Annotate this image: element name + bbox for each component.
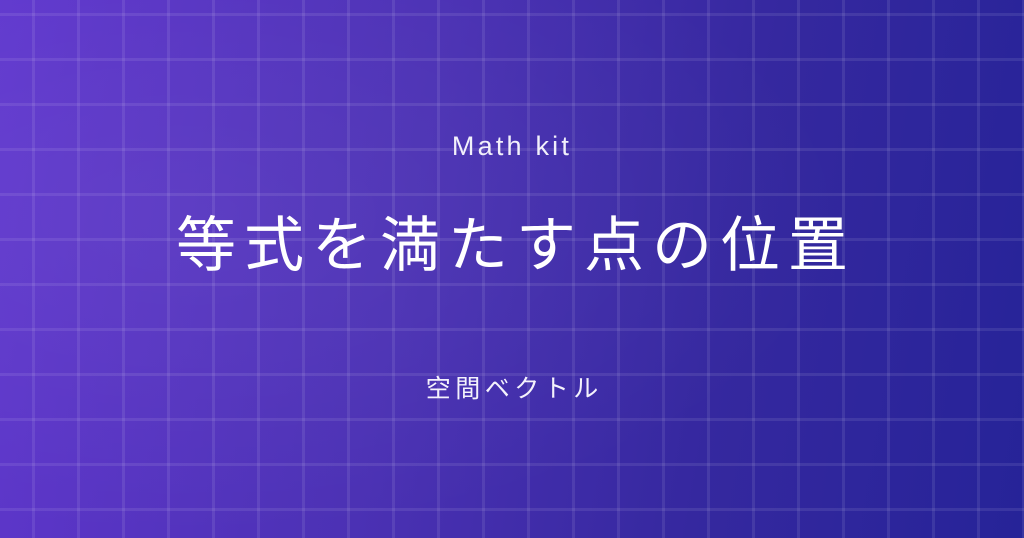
brand-eyebrow: Math kit bbox=[452, 133, 572, 160]
page-title: 等式を満たす点の位置 bbox=[168, 216, 856, 276]
title-card-content: Math kit 等式を満たす点の位置 空間ベクトル bbox=[0, 0, 1024, 538]
page-subtitle: 空間ベクトル bbox=[421, 377, 603, 402]
title-card: Math kit 等式を満たす点の位置 空間ベクトル bbox=[0, 0, 1024, 538]
